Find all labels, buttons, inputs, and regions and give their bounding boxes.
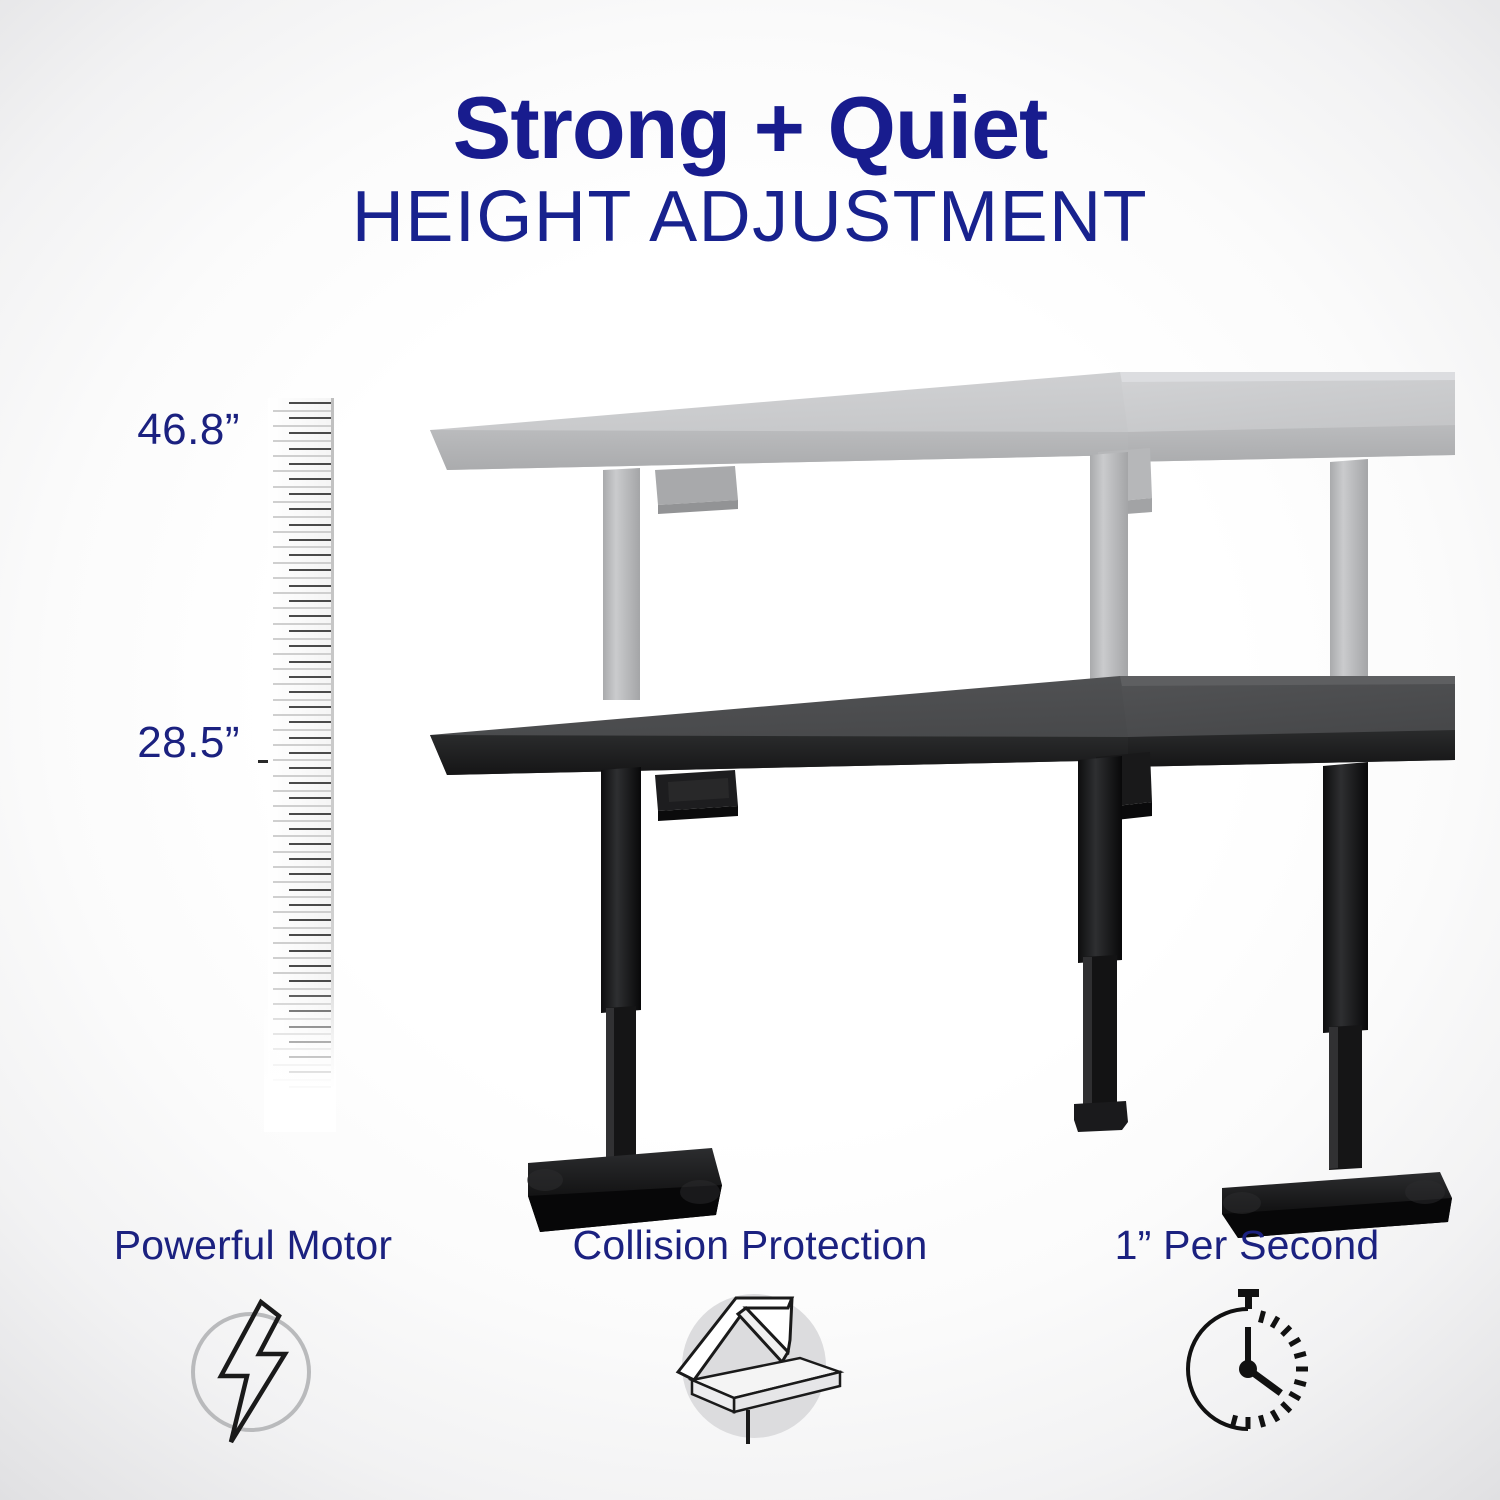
ruler-tick	[273, 881, 331, 883]
min-height-label: 28.5”	[20, 718, 240, 768]
ruler-tick	[273, 957, 331, 959]
ruler-tick	[289, 706, 331, 708]
ruler-tick	[273, 577, 331, 579]
ruler-tick	[289, 676, 331, 678]
stopwatch-icon	[1012, 1281, 1482, 1456]
ruler-tick	[273, 683, 331, 685]
desk-collision-icon	[515, 1281, 985, 1456]
ruler-tick	[273, 1048, 331, 1050]
desk-leg-right	[1222, 762, 1452, 1238]
ruler-tick	[273, 911, 331, 913]
ruler-tick	[289, 934, 331, 936]
ruler-tick	[289, 478, 331, 480]
ruler-tick	[289, 1026, 331, 1028]
ruler-tick	[273, 1033, 331, 1035]
ruler-tick	[273, 744, 331, 746]
ruler-tick	[289, 950, 331, 952]
ruler-tick	[289, 600, 331, 602]
desk-leg-left	[527, 767, 722, 1232]
ruler-tick	[273, 988, 331, 990]
height-ruler	[268, 398, 334, 1128]
ruler-tick	[273, 927, 331, 929]
max-height-label: 46.8”	[20, 405, 240, 455]
ruler-tick	[273, 668, 331, 670]
ruler-tick	[273, 440, 331, 442]
ruler-tick	[273, 623, 331, 625]
height-controller-keypad[interactable]	[655, 770, 738, 821]
ruler-tick	[273, 592, 331, 594]
desk-raised-position	[430, 372, 1455, 700]
ruler-tick	[273, 1124, 331, 1126]
ruler-tick	[289, 402, 331, 404]
ruler-tick	[289, 691, 331, 693]
ruler-tick	[273, 699, 331, 701]
ruler-tick	[289, 1041, 331, 1043]
feature-speed: 1” Per Second	[1012, 1222, 1482, 1456]
ruler-tick	[289, 615, 331, 617]
ruler-tick	[273, 866, 331, 868]
ruler-tick	[289, 585, 331, 587]
feature-label: Powerful Motor	[18, 1222, 488, 1269]
ruler-tick	[273, 425, 331, 427]
ruler-tick	[289, 1102, 331, 1104]
ruler-tick	[273, 638, 331, 640]
feature-label: 1” Per Second	[1012, 1222, 1482, 1269]
ruler-tick	[273, 775, 331, 777]
ruler-tick	[273, 835, 331, 837]
ruler-tick	[289, 1086, 331, 1088]
ruler-tick	[289, 965, 331, 967]
ruler-tick	[273, 790, 331, 792]
ruler-tick	[273, 1018, 331, 1020]
ruler-tick	[273, 470, 331, 472]
ruler-tick	[289, 721, 331, 723]
feature-powerful-motor: Powerful Motor	[18, 1222, 488, 1456]
ruler-tick	[289, 752, 331, 754]
ruler-tick	[289, 448, 331, 450]
ruler-tick	[289, 813, 331, 815]
ruler-tick	[289, 828, 331, 830]
ruler-tick	[273, 486, 331, 488]
ruler-tick	[289, 539, 331, 541]
feature-row: Powerful Motor Collision Protection	[0, 1222, 1500, 1492]
ruler-tick	[273, 820, 331, 822]
ruler-tick	[289, 858, 331, 860]
ruler-tick	[273, 805, 331, 807]
ruler-tick	[289, 873, 331, 875]
ruler-tick	[289, 767, 331, 769]
ruler-tick	[273, 851, 331, 853]
ruler-tick	[289, 995, 331, 997]
ruler-tick	[273, 1079, 331, 1081]
ruler-tick	[273, 531, 331, 533]
ruler-tick	[273, 516, 331, 518]
ruler-tick	[289, 432, 331, 434]
ruler-tick	[273, 607, 331, 609]
ruler-tick	[273, 729, 331, 731]
ruler-tick	[289, 463, 331, 465]
ruler-tick	[289, 1117, 331, 1119]
ruler-tick	[273, 1094, 331, 1096]
ruler-tick	[289, 661, 331, 663]
ruler-tick	[289, 1071, 331, 1073]
ruler-tick	[273, 1109, 331, 1111]
desk-lowered-position	[430, 676, 1455, 1238]
ruler-tick	[289, 417, 331, 419]
feature-collision-protection: Collision Protection	[515, 1222, 985, 1456]
ruler-ticks	[268, 398, 334, 1128]
desk-leg-corner	[1074, 756, 1128, 1132]
infographic-canvas: Strong + Quiet HEIGHT ADJUSTMENT	[0, 0, 1500, 1500]
ruler-tick	[273, 562, 331, 564]
ruler-tick	[273, 501, 331, 503]
ruler-tick	[273, 759, 331, 761]
ruler-tick	[289, 508, 331, 510]
ruler-tick	[289, 737, 331, 739]
ruler-tick	[273, 455, 331, 457]
ruler-tick	[289, 554, 331, 556]
ruler-tick	[289, 904, 331, 906]
ruler-tick	[273, 653, 331, 655]
ruler-edge-line	[331, 398, 334, 1128]
ruler-tick	[273, 942, 331, 944]
ruler-tick	[289, 569, 331, 571]
ruler-tick	[289, 1056, 331, 1058]
ruler-tick	[273, 1064, 331, 1066]
ruler-tick	[289, 493, 331, 495]
ruler-tick	[289, 797, 331, 799]
ruler-tick	[289, 1010, 331, 1012]
ruler-tick	[289, 782, 331, 784]
ruler-tick	[289, 980, 331, 982]
ruler-tick	[289, 630, 331, 632]
ruler-tick	[273, 972, 331, 974]
ruler-tick	[289, 843, 331, 845]
ruler-tick	[289, 889, 331, 891]
ruler-tick	[273, 410, 331, 412]
ruler-tick	[289, 524, 331, 526]
ruler-tick	[273, 546, 331, 548]
ruler-tick	[273, 896, 331, 898]
ruler-tick	[273, 1003, 331, 1005]
feature-label: Collision Protection	[515, 1222, 985, 1269]
ruler-tick	[273, 714, 331, 716]
lightning-bolt-icon	[18, 1281, 488, 1456]
ruler-tick	[289, 919, 331, 921]
ruler-tick	[289, 645, 331, 647]
